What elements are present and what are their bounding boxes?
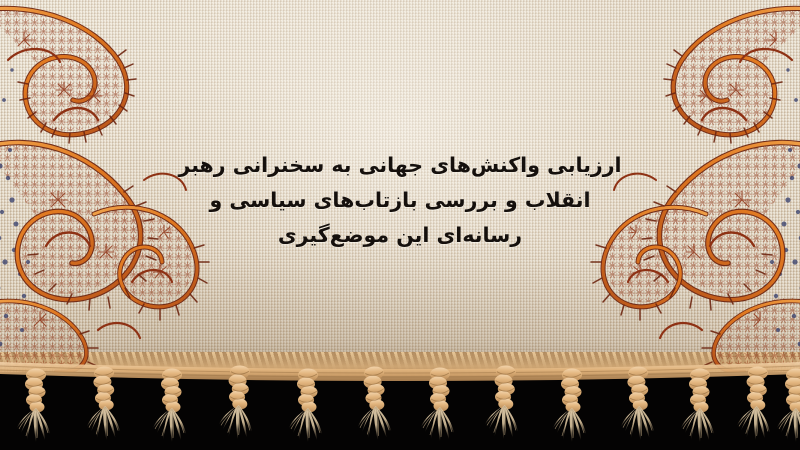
title-card-canvas: ارزیابی واکنش‌های جهانی به سخنرانی رهبر … — [0, 0, 800, 450]
headline-line-1: ارزیابی واکنش‌های جهانی به سخنرانی رهبر — [178, 148, 622, 183]
headline-line-2: انقلاب و بررسی بازتاب‌های سیاسی و — [178, 183, 622, 218]
headline-persian: ارزیابی واکنش‌های جهانی به سخنرانی رهبر … — [178, 148, 622, 253]
headline-line-3: رسانه‌ای این موضع‌گیری — [178, 218, 622, 253]
